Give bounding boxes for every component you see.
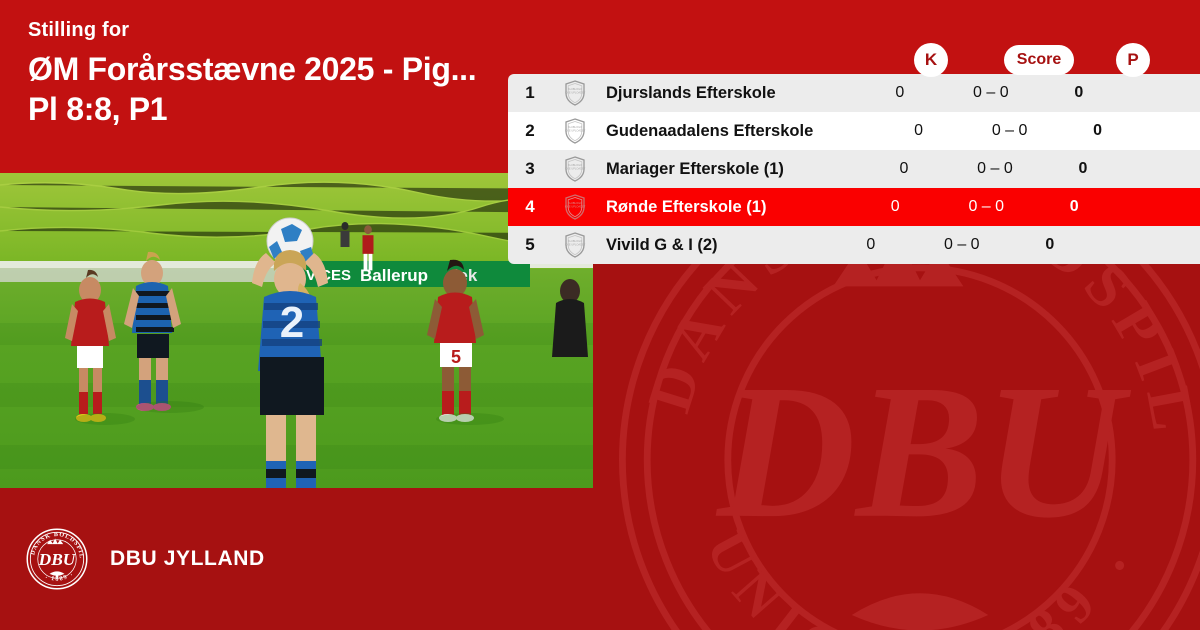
share-card: DANSK BOLDSPIL UNION . 1889 . DBU Stilli… [0,0,1200,630]
header-text-block: Stilling for ØM Forårsstævne 2025 - Pig.… [28,18,548,129]
table-row[interactable]: 3 KLUBLOGOIKKE UPLOADET Mariager Eftersk… [508,150,1200,188]
row-score: 0 – 0 [938,198,1034,216]
row-rank: 4 [508,197,552,217]
svg-text:IKKE UPLOADET: IKKE UPLOADET [565,204,586,208]
row-score: 0 – 0 [914,236,1010,254]
svg-text:IKKE UPLOADET: IKKE UPLOADET [565,242,586,246]
table-row[interactable]: 5 KLUBLOGOIKKE UPLOADET Vivild G & I (2)… [508,226,1200,264]
row-team-name: Gudenaadalens Efterskole [598,122,876,141]
page-title-line-1: ØM Forårsstævne 2025 - Pig... [28,49,548,89]
svg-text:DBU: DBU [38,550,77,569]
svg-text:KLUBLOGO: KLUBLOGO [568,125,582,129]
table-row[interactable]: 1 KLUBLOGOIKKE UPLOADET Djurslands Efter… [508,74,1200,112]
row-team-name: Djurslands Efterskole [598,84,857,103]
team-crest-icon: KLUBLOGOIKKE UPLOADET [552,194,598,220]
column-header-k: K [914,43,948,77]
svg-text:IKKE UPLOADET: IKKE UPLOADET [565,166,586,170]
row-p: 0 [1010,236,1090,254]
row-k: 0 [876,122,962,140]
team-crest-icon: KLUBLOGOIKKE UPLOADET [552,118,598,144]
dbu-logo-icon: DANSK BOLDSPIL UNION . 1889 . DBU [26,528,88,590]
row-team-name: Vivild G & I (2) [598,236,828,255]
row-p: 0 [1058,122,1138,140]
page-title-line-2: Pl 8:8, P1 [28,89,548,129]
row-k: 0 [852,198,938,216]
team-crest-icon: KLUBLOGOIKKE UPLOADET [552,156,598,182]
svg-text:5: 5 [451,347,461,367]
column-header-score: Score [1004,45,1074,75]
row-rank: 5 [508,235,552,255]
footer-bar: DANSK BOLDSPIL UNION . 1889 . DBU DBU JY… [0,488,1200,630]
row-score: 0 – 0 [943,84,1039,102]
row-team-name: Rønde Efterskole (1) [598,198,852,217]
svg-text:KLUBLOGO: KLUBLOGO [568,239,582,243]
match-photo: VICES Ballerup dek [0,173,593,488]
table-row-highlighted[interactable]: 4 KLUBLOGOIKKE UPLOADET Rønde Efterskole… [508,188,1200,226]
row-p: 0 [1039,84,1119,102]
svg-text:IKKE UPLOADET: IKKE UPLOADET [565,90,586,94]
row-rank: 3 [508,159,552,179]
svg-text:KLUBLOGO: KLUBLOGO [568,163,582,167]
row-k: 0 [857,84,943,102]
svg-text:KLUBLOGO: KLUBLOGO [568,87,582,91]
row-p: 0 [1043,160,1123,178]
footer-org-name: DBU JYLLAND [110,547,265,571]
svg-text:KLUBLOGO: KLUBLOGO [568,201,582,205]
row-p: 0 [1034,198,1114,216]
row-score: 0 – 0 [962,122,1058,140]
svg-text:IKKE UPLOADET: IKKE UPLOADET [565,128,586,132]
row-score: 0 – 0 [947,160,1043,178]
standings-table: 1 KLUBLOGOIKKE UPLOADET Djurslands Efter… [508,74,1200,264]
header-kicker: Stilling for [28,18,548,42]
team-crest-icon: KLUBLOGOIKKE UPLOADET [552,232,598,258]
row-k: 0 [828,236,914,254]
column-header-p: P [1116,43,1150,77]
team-crest-icon: KLUBLOGOIKKE UPLOADET [552,80,598,106]
table-row[interactable]: 2 KLUBLOGOIKKE UPLOADET Gudenaadalens Ef… [508,112,1200,150]
row-team-name: Mariager Efterskole (1) [598,160,861,179]
svg-text:2: 2 [280,298,304,347]
row-k: 0 [861,160,947,178]
